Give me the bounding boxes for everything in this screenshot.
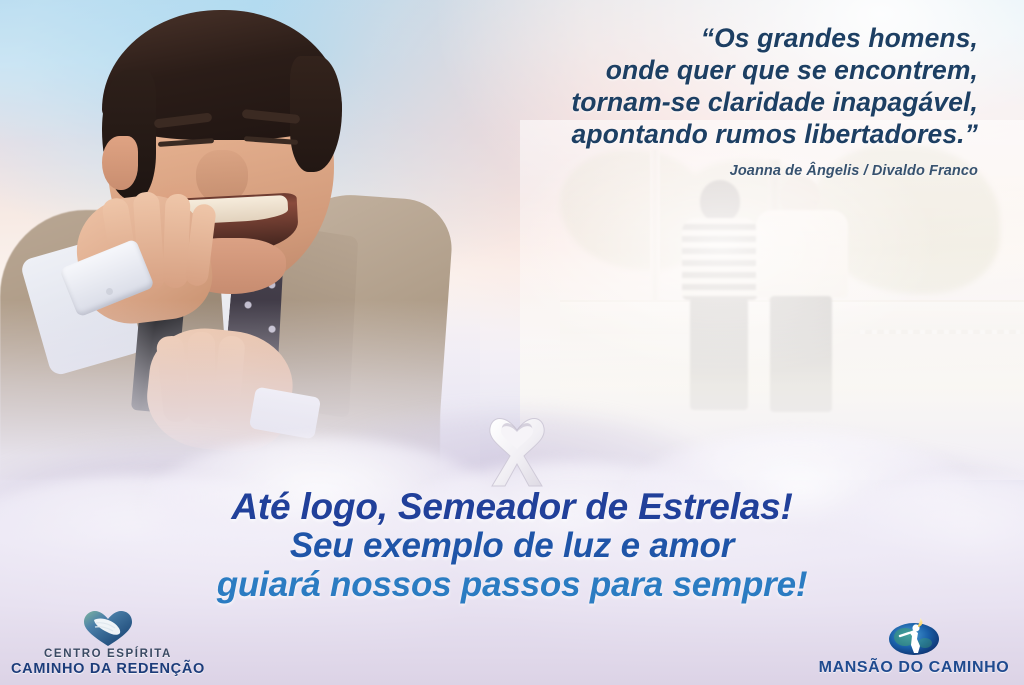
headline-line-1: Até logo, Semeador de Estrelas! [0,487,1024,526]
centro-espirita-line-1: CENTRO ESPÍRITA [8,648,208,660]
memorial-poster: “Os grandes homens, onde quer que se enc… [0,0,1024,685]
ear [102,136,138,190]
globe-figure-flame-icon [814,618,1014,656]
hair-right-side [290,56,342,172]
quote-attribution: Joanna de Ângelis / Divaldo Franco [418,163,978,179]
quote-block: “Os grandes homens, onde quer que se enc… [418,22,978,179]
quote-line-3: tornam-se claridade inapagável, [418,86,978,118]
mansao-do-caminho-label: MANSÃO DO CAMINHO [814,659,1014,677]
cuff-button [106,288,113,295]
quote-line-2: onde quer que se encontrem, [418,54,978,86]
mansao-do-caminho-logo-block: MANSÃO DO CAMINHO [814,618,1014,677]
headline-line-2: Seu exemplo de luz e amor [0,526,1024,565]
centro-espirita-logo-block: CENTRO ESPÍRITA CAMINHO DA REDENÇÃO [8,610,208,677]
mourning-ribbon-icon [472,406,562,492]
memorial-headline: Até logo, Semeador de Estrelas! Seu exem… [0,487,1024,604]
quote-line-4: apontando rumos libertadores.” [418,118,978,150]
centro-espirita-line-2: CAMINHO DA REDENÇÃO [8,661,208,677]
headline-line-3: guiará nossos passos para sempre! [0,565,1024,604]
heart-hands-icon [8,610,208,648]
quote-line-1: “Os grandes homens, [418,22,978,54]
